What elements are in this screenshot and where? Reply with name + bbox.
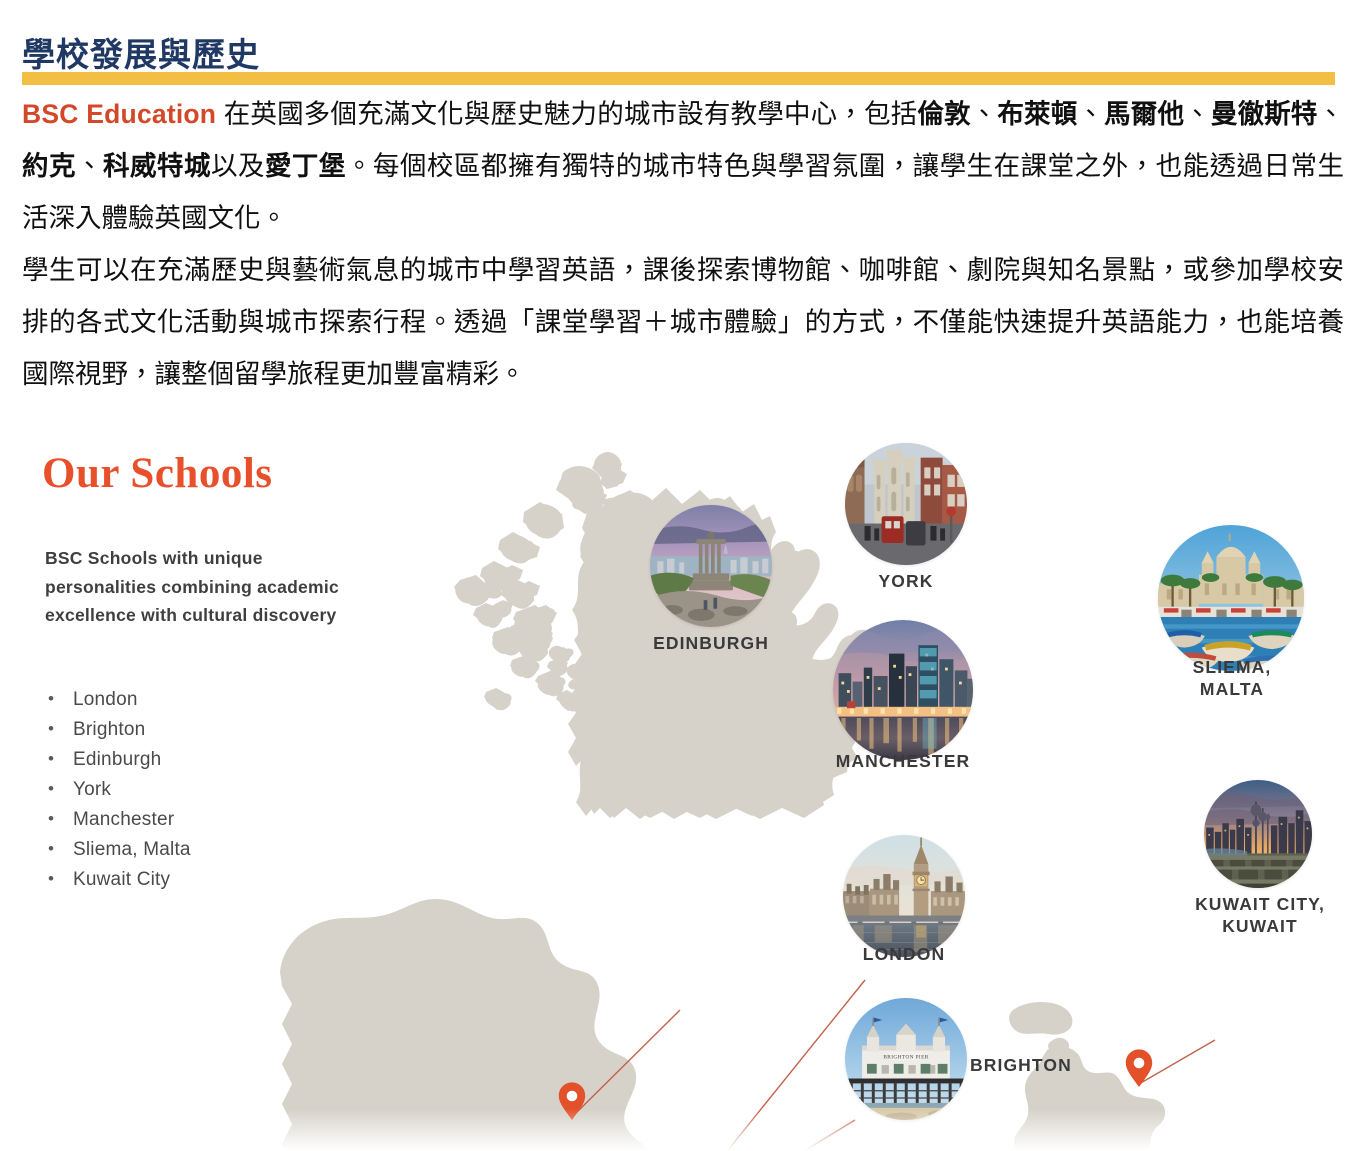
kuwait-city-towers-sunset-photo bbox=[1204, 780, 1312, 888]
manchester-photo[interactable] bbox=[833, 620, 973, 760]
list-item: York bbox=[45, 775, 335, 805]
london-big-ben-westminster-photo bbox=[843, 835, 965, 957]
city-edinburgh-zh: 愛丁堡 bbox=[265, 151, 346, 181]
header-underline-bar bbox=[22, 72, 1335, 85]
school-city-list: London Brighton Edinburgh York Mancheste… bbox=[45, 685, 335, 895]
sep-5: 、 bbox=[76, 151, 103, 181]
our-schools-infographic: Our Schools BSC Schools with unique pers… bbox=[0, 420, 1366, 1151]
city-brighton-zh: 布萊頓 bbox=[997, 99, 1077, 129]
brighton-palace-pier-photo: BRIGHTON PIER bbox=[845, 998, 967, 1120]
sep-3: 、 bbox=[1184, 99, 1211, 129]
page-title: 學校發展與歷史 bbox=[22, 38, 260, 71]
edinburgh-photo[interactable] bbox=[650, 505, 772, 627]
p1-segment-a: 在英國多個充滿文化與歷史魅力的城市設有教學中心，包括 bbox=[216, 99, 917, 129]
city-kuwait-zh: 科威特城 bbox=[103, 151, 211, 181]
city-london-zh: 倫敦 bbox=[917, 99, 970, 129]
city-york-zh: 約克 bbox=[22, 151, 76, 181]
sep-6: 以及 bbox=[211, 151, 265, 181]
york-minster-street-photo bbox=[845, 443, 967, 565]
sep-2: 、 bbox=[1077, 99, 1104, 129]
manchester-media-city-skyline-photo bbox=[833, 620, 973, 760]
paragraph-2: 學生可以在充滿歷史與藝術氣息的城市中學習英語，課後探索博物館、咖啡館、劇院與知名… bbox=[22, 244, 1344, 400]
london-label: LONDON bbox=[824, 943, 984, 965]
paragraph-1: BSC Education 在英國多個充滿文化與歷史魅力的城市設有教學中心，包括… bbox=[22, 88, 1344, 244]
brand-name: BSC Education bbox=[22, 99, 216, 129]
kuwait-photo[interactable] bbox=[1204, 780, 1312, 888]
intro-copy: BSC Education 在英國多個充滿文化與歷史魅力的城市設有教學中心，包括… bbox=[22, 88, 1344, 400]
sliema-photo[interactable] bbox=[1158, 525, 1304, 671]
london-photo[interactable] bbox=[843, 835, 965, 957]
list-item: Manchester bbox=[45, 805, 335, 835]
sep-1: 、 bbox=[971, 99, 998, 129]
city-manchester-zh: 曼徹斯特 bbox=[1211, 99, 1318, 129]
list-item: London bbox=[45, 685, 335, 715]
city-malta-zh: 馬爾他 bbox=[1104, 99, 1184, 129]
manchester-label: MANCHESTER bbox=[823, 750, 983, 772]
brighton-photo[interactable]: BRIGHTON PIER bbox=[845, 998, 967, 1120]
edinburgh-dugald-stewart-monument-photo bbox=[650, 505, 772, 627]
gozo-island bbox=[1009, 1002, 1072, 1035]
list-item: Brighton bbox=[45, 715, 335, 745]
sep-4: 、 bbox=[1318, 99, 1345, 129]
list-item: Kuwait City bbox=[45, 865, 335, 895]
kuwait-label: KUWAIT CITY, KUWAIT bbox=[1180, 893, 1340, 937]
infographic-title: Our Schools bbox=[42, 452, 273, 495]
svg-text:BRIGHTON PIER: BRIGHTON PIER bbox=[883, 1055, 928, 1061]
brighton-label: BRIGHTON bbox=[970, 1054, 1150, 1076]
york-label: YORK bbox=[826, 570, 986, 592]
list-item: Edinburgh bbox=[45, 745, 335, 775]
york-photo[interactable] bbox=[845, 443, 967, 565]
list-item: Sliema, Malta bbox=[45, 835, 335, 865]
page-header: 學校發展與歷史 bbox=[0, 18, 1366, 80]
edinburgh-label: EDINBURGH bbox=[631, 632, 791, 654]
infographic-tagline: BSC Schools with unique personalities co… bbox=[45, 544, 345, 630]
sliema-label: SLIEMA, MALTA bbox=[1157, 656, 1307, 700]
sliema-malta-harbour-photo bbox=[1158, 525, 1304, 671]
